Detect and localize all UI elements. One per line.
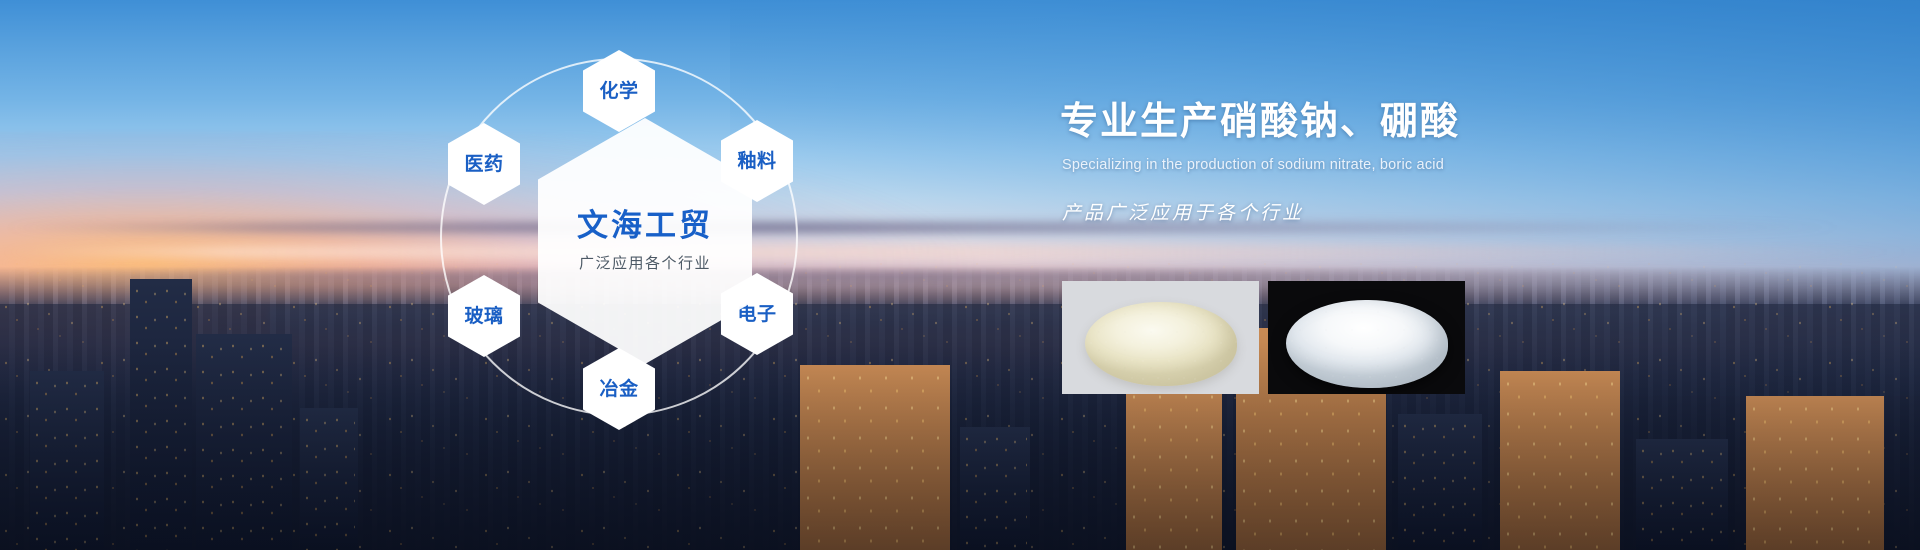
hex-label-chemistry: 化学 <box>599 82 638 101</box>
hex-label-pharma: 医药 <box>464 155 503 174</box>
product-photo-strip <box>1062 281 1465 394</box>
tower <box>1126 384 1222 550</box>
product-photo-sodium-nitrate[interactable] <box>1062 281 1259 394</box>
company-name: 文海工贸 <box>577 209 713 243</box>
powder-pile <box>1286 300 1448 388</box>
tower <box>1746 396 1884 550</box>
company-tagline: 广泛应用各个行业 <box>579 252 711 273</box>
powder-grain-texture <box>1085 302 1237 386</box>
tower-cluster <box>0 242 1920 550</box>
tower <box>1500 371 1620 550</box>
headline: 专业生产硝酸钠、硼酸 <box>1060 100 1700 146</box>
hex-label-glass: 玻璃 <box>464 307 503 326</box>
industry-hexagon-diagram: 化学 医药 釉料 玻璃 电子 冶金 文海工贸 广泛应用各个行业 <box>430 10 860 540</box>
product-photo-boric-acid[interactable] <box>1268 281 1465 394</box>
tower <box>1636 439 1728 550</box>
tagline: 产品广泛应用于各个行业 <box>1062 198 1700 225</box>
hex-label-metallurgy: 冶金 <box>599 380 638 399</box>
tower <box>300 408 358 550</box>
tower <box>30 371 104 550</box>
tower <box>130 279 192 550</box>
tower <box>1398 414 1482 550</box>
tower <box>960 427 1030 550</box>
city-skyline <box>0 242 1920 550</box>
powder-pile <box>1085 302 1237 386</box>
copy-block: 专业生产硝酸钠、硼酸 Specializing in the productio… <box>1060 100 1700 225</box>
headline-english: Specializing in the production of sodium… <box>1062 157 1700 173</box>
tower <box>196 334 292 550</box>
hex-label-glaze: 釉料 <box>737 152 776 171</box>
powder-grain-texture <box>1286 300 1448 388</box>
promo-banner: 化学 医药 釉料 玻璃 电子 冶金 文海工贸 广泛应用各个行业 专业生产硝酸钠、… <box>0 0 1920 550</box>
